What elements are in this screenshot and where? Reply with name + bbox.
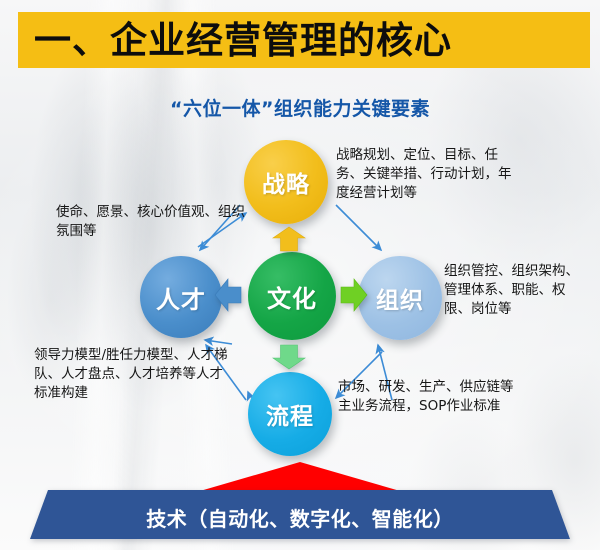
node-culture-label: 文化 [267, 279, 317, 314]
node-process[interactable]: 流程 [248, 372, 332, 456]
node-talent[interactable]: 人才 [140, 256, 222, 338]
node-organization[interactable]: 组织 [358, 256, 442, 340]
block-arrow-down-icon [272, 344, 306, 370]
node-organization-label: 组织 [376, 281, 424, 315]
node-culture[interactable]: 文化 [248, 252, 336, 340]
subtitle: “六位一体”组织能力关键要素 [0, 94, 600, 121]
description-talent: 领导力模型/胜任力模型、人才梯队、人才盘点、人才培养等人才标准构建 [34, 346, 230, 403]
node-talent-label: 人才 [156, 280, 206, 315]
node-strategy[interactable]: 战略 [244, 140, 328, 224]
page-title: 一、企业经营管理的核心 [34, 22, 452, 59]
technology-banner-label: 技术（自动化、数字化、智能化） [0, 496, 600, 542]
block-arrow-left-icon [214, 278, 242, 312]
slide-canvas: 一、企业经营管理的核心 “六位一体”组织能力关键要素 [0, 0, 600, 550]
node-strategy-label: 战略 [262, 165, 310, 199]
description-culture: 使命、愿景、核心价值观、组织氛围等 [56, 203, 256, 241]
block-arrow-right-icon [340, 278, 368, 312]
title-bar: 一、企业经营管理的核心 [18, 12, 590, 68]
node-process-label: 流程 [266, 397, 314, 431]
description-organization: 组织管控、组织架构、管理体系、职能、权限、岗位等 [444, 262, 592, 319]
red-triangle-arrow-icon [200, 462, 400, 492]
block-arrow-up-icon [272, 226, 306, 252]
description-process: 市场、研发、生产、供应链等主业务流程，SOP作业标准 [338, 378, 524, 416]
description-strategy: 战略规划、定位、目标、任务、关键举措、行动计划，年度经营计划等 [336, 146, 524, 203]
